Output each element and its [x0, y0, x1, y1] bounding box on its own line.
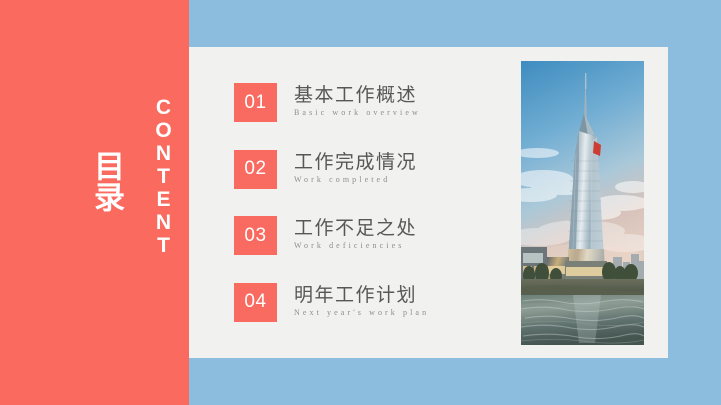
agenda-subtitle-04: Next year's work plan: [294, 306, 429, 319]
agenda-title-03: 工作不足之处: [294, 217, 417, 239]
agenda-text-01: 基本工作概述 Basic work overview: [294, 83, 421, 119]
sidebar-title-latin: CONTENT: [148, 96, 178, 257]
agenda-item-04[interactable]: 04 明年工作计划 Next year's work plan: [234, 283, 464, 322]
agenda-item-02[interactable]: 02 工作完成情况 Work completed: [234, 150, 464, 189]
agenda-number-badge-04: 04: [234, 283, 277, 322]
agenda-title-04: 明年工作计划: [294, 284, 429, 306]
sidebar-title-cjk: 目录: [86, 150, 128, 212]
agenda-item-03[interactable]: 03 工作不足之处 Work deficiencies: [234, 216, 464, 255]
agenda-text-02: 工作完成情况 Work completed: [294, 150, 417, 186]
presentation-slide: 目录 CONTENT 01 基本工作概述 Basic work overview…: [0, 0, 721, 405]
agenda-subtitle-02: Work completed: [294, 173, 417, 186]
agenda-subtitle-03: Work deficiencies: [294, 239, 417, 252]
agenda-list: 01 基本工作概述 Basic work overview 02 工作完成情况 …: [234, 83, 464, 322]
building-photo: [521, 61, 644, 345]
agenda-number-badge-03: 03: [234, 216, 277, 255]
agenda-title-02: 工作完成情况: [294, 151, 417, 173]
agenda-number-badge-02: 02: [234, 150, 277, 189]
agenda-text-04: 明年工作计划 Next year's work plan: [294, 283, 429, 319]
skyscraper-illustration: [521, 61, 644, 345]
agenda-text-03: 工作不足之处 Work deficiencies: [294, 216, 417, 252]
agenda-title-01: 基本工作概述: [294, 84, 421, 106]
sidebar: 目录 CONTENT: [0, 0, 189, 405]
agenda-number-badge-01: 01: [234, 83, 277, 122]
agenda-item-01[interactable]: 01 基本工作概述 Basic work overview: [234, 83, 464, 122]
agenda-subtitle-01: Basic work overview: [294, 106, 421, 119]
